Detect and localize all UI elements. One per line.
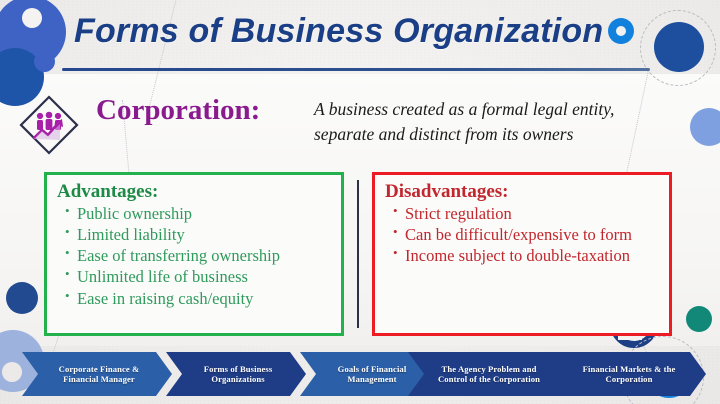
nav-chevron-label: Financial Markets & the Corporation: [566, 364, 692, 385]
decorative-circle-top-right-big: [654, 22, 704, 72]
list-item: Public ownership: [77, 204, 333, 224]
topic-description: A business created as a formal legal ent…: [314, 97, 686, 148]
disadvantages-box: Disadvantages: Strict regulation Can be …: [372, 172, 672, 336]
nav-chevron-agency-problem[interactable]: The Agency Problem and Control of the Co…: [408, 352, 566, 396]
decorative-circle-top-left-small: [34, 51, 55, 72]
decorative-circle-bottom-right-teal: [686, 306, 712, 332]
list-item: Strict regulation: [405, 204, 661, 224]
chevron-navigation: Corporate Finance & Financial Manager Fo…: [0, 352, 720, 396]
advantages-heading: Advantages:: [57, 181, 341, 203]
nav-chevron-forms-of-business-organizations[interactable]: Forms of Business Organizations: [166, 352, 306, 396]
topic-label: Corporation:: [96, 94, 260, 127]
topic-description-line-2: separate and distinct from its owners: [314, 122, 686, 147]
decorative-circle-left-middle: [6, 282, 38, 314]
nav-chevron-financial-markets[interactable]: Financial Markets & the Corporation: [548, 352, 706, 396]
slide-canvas: Forms of Business Organization Corporati: [0, 0, 720, 404]
page-title: Forms of Business Organization: [74, 12, 603, 51]
group-growth-diamond-icon: [18, 94, 80, 156]
list-item: Unlimited life of business: [77, 267, 333, 287]
list-item: Ease in raising cash/equity: [77, 289, 333, 309]
list-item: Can be difficult/expensive to form: [405, 225, 661, 245]
nav-chevron-corporate-finance[interactable]: Corporate Finance & Financial Manager: [22, 352, 172, 396]
list-item: Ease of transferring ownership: [77, 246, 333, 266]
title-underline: [62, 68, 650, 71]
advantages-box: Advantages: Public ownership Limited lia…: [44, 172, 344, 336]
nav-chevron-label: Corporate Finance & Financial Manager: [40, 364, 158, 385]
advantages-list: Public ownership Limited liability Ease …: [47, 204, 341, 309]
nav-chevron-label: Forms of Business Organizations: [184, 364, 292, 385]
topic-header: Corporation: A business created as a for…: [18, 92, 700, 164]
disadvantages-heading: Disadvantages:: [385, 181, 669, 203]
topic-description-line-1: A business created as a formal legal ent…: [314, 97, 686, 122]
column-divider: [357, 180, 359, 328]
list-item: Limited liability: [77, 225, 333, 245]
list-item: Income subject to double-taxation: [405, 246, 661, 266]
nav-chevron-label: Goals of Financial Management: [318, 364, 426, 385]
decorative-circle-top-left-hole: [22, 8, 42, 28]
nav-chevron-label: The Agency Problem and Control of the Co…: [426, 364, 552, 385]
decorative-circle-top-right-hole: [616, 26, 626, 36]
disadvantages-list: Strict regulation Can be difficult/expen…: [375, 204, 669, 266]
